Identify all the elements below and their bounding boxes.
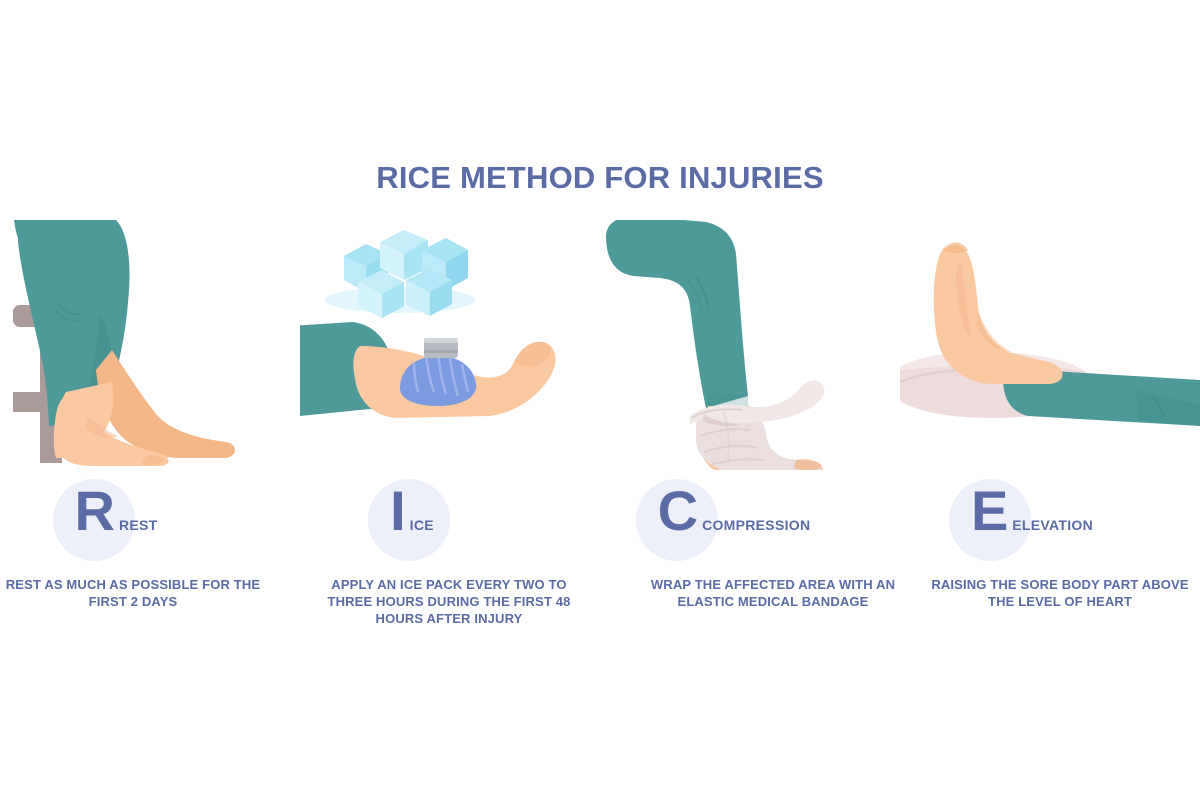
step-elevation: E ELEVATION RAISING THE SORE BODY PART A… (900, 220, 1200, 660)
caption-ice: APPLY AN ICE PACK EVERY TWO TO THREE HOU… (318, 576, 580, 627)
badge-letter: E (971, 470, 1008, 552)
trouser-leg (606, 220, 748, 408)
page-title: RICE METHOD FOR INJURIES (0, 160, 1200, 196)
badge-elevation: E ELEVATION (900, 470, 1200, 570)
steps-row: R REST REST AS MUCH AS POSSIBLE FOR THE … (0, 220, 1200, 660)
ice-pack-icon (400, 338, 476, 406)
illustration-compression (600, 220, 900, 470)
badge-word: REST (115, 484, 158, 566)
badge-compression: C COMPRESSION (600, 470, 900, 570)
illustration-ice (300, 220, 600, 470)
badge-word: ICE (406, 484, 434, 566)
step-compression: C COMPRESSION WRAP THE AFFECTED AREA WIT… (600, 220, 900, 660)
badge-letter: I (390, 470, 406, 552)
badge-ice: I ICE (300, 470, 600, 570)
badge-letter: R (75, 470, 115, 552)
badge-rest: R REST (0, 470, 300, 570)
badge-letter: C (658, 470, 698, 552)
illustration-elevation (900, 220, 1200, 470)
caption-elevation: RAISING THE SORE BODY PART ABOVE THE LEV… (929, 576, 1191, 610)
rice-method-poster: RICE METHOD FOR INJURIES (0, 0, 1200, 800)
illustration-rest (0, 220, 300, 470)
caption-compression: WRAP THE AFFECTED AREA WITH AN ELASTIC M… (642, 576, 904, 610)
step-ice: I ICE APPLY AN ICE PACK EVERY TWO TO THR… (300, 220, 600, 660)
badge-word: COMPRESSION (698, 484, 810, 566)
caption-rest: REST AS MUCH AS POSSIBLE FOR THE FIRST 2… (2, 576, 264, 610)
step-rest: R REST REST AS MUCH AS POSSIBLE FOR THE … (0, 220, 300, 660)
badge-word: ELEVATION (1008, 484, 1093, 566)
